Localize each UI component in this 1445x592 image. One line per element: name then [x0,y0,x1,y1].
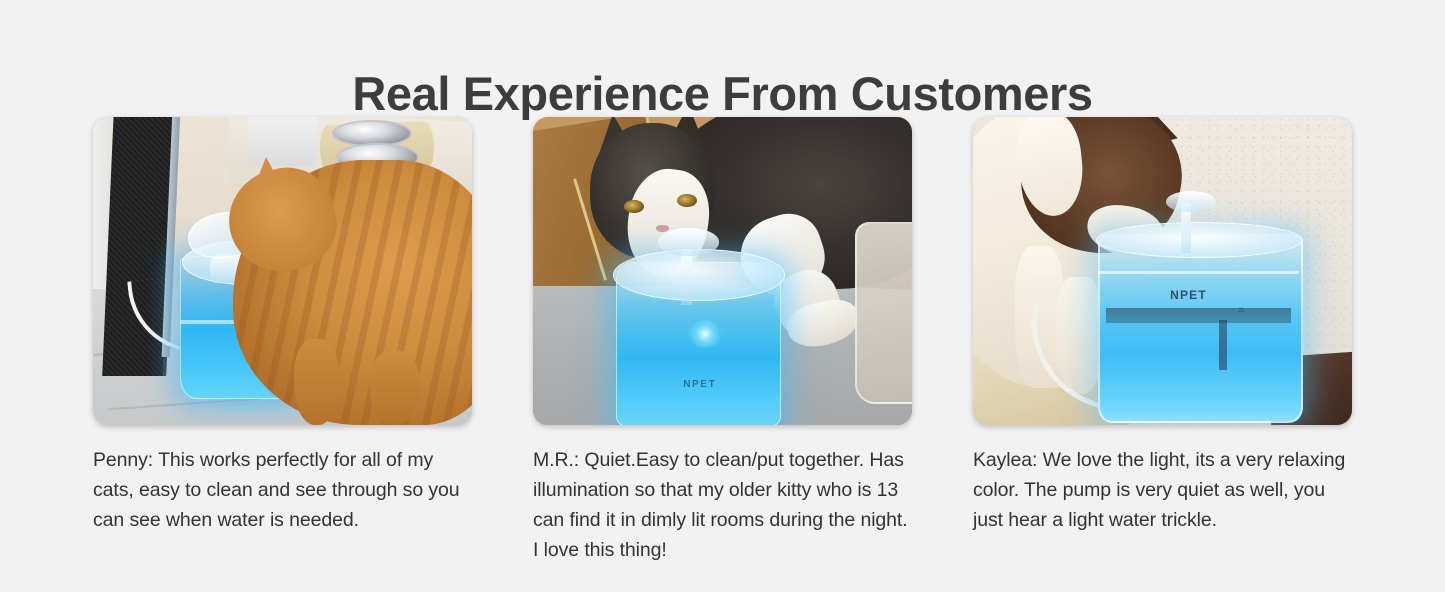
water-level-line [1098,271,1299,274]
fountain-lid [1096,222,1303,258]
photo-3-scene: NPET 2L [973,117,1352,425]
fountain-cup [1166,191,1215,213]
testimonial-card: NPET 2L Kaylea: We love the light, its a… [973,117,1352,585]
testimonial-section: Real Experience From Customers [0,0,1445,592]
testimonial-caption: M.R.: Quiet.Easy to clean/put together. … [533,445,912,565]
fountain-cup [658,228,719,256]
glass-jar [855,222,912,405]
fountain-lid [613,249,786,300]
volume-marking: 2L [1238,308,1245,314]
cabinet [248,117,316,166]
brand-logo-npet: NPET [1170,288,1253,302]
cat-eye [624,200,644,213]
customer-photo-3: NPET 2L [973,117,1352,425]
cat-eye [677,194,697,207]
pump-tube [1219,320,1227,369]
photo-2-scene: NPET [533,117,912,425]
cat-leg [294,339,339,425]
cat-leg [370,351,419,425]
brand-logo-npet: NPET [658,379,741,390]
customer-photo-1 [93,117,472,425]
testimonial-card-list: Penny: This works perfectly for all of m… [93,117,1352,585]
testimonial-caption: Kaylea: We love the light, its a very re… [973,445,1352,535]
fountain-stem [681,249,692,304]
testimonial-card: NPET M.R.: Quiet.Easy to clean/put toget… [533,117,912,585]
testimonial-card: Penny: This works perfectly for all of m… [93,117,472,585]
photo-1-scene [93,117,472,425]
testimonial-caption: Penny: This works perfectly for all of m… [93,445,472,535]
pump-housing [1106,308,1292,323]
customer-photo-2: NPET [533,117,912,425]
fountain-tank [1098,234,1303,423]
